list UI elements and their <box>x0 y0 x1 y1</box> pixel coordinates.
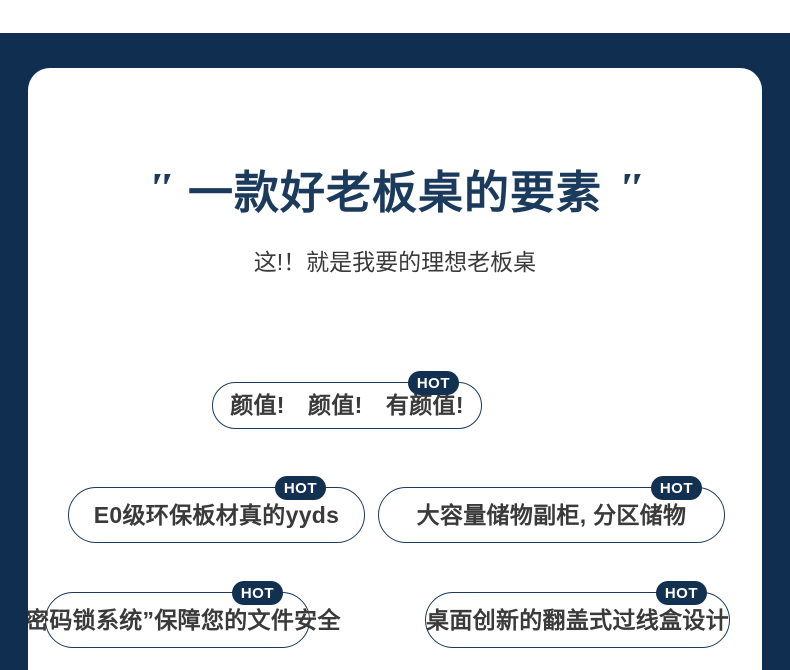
feature-pill-1-label: 颜值! 颜值! 有颜值! <box>230 394 464 417</box>
feature-pill-2-label: E0级环保板材真的yyds <box>94 504 339 527</box>
feature-pill-5-label: 桌面创新的翻盖式过线盒设计 <box>426 609 729 632</box>
quote-open-icon: " <box>145 168 175 210</box>
feature-pill-5[interactable]: 桌面创新的翻盖式过线盒设计 HOT <box>425 592 730 648</box>
feature-pill-3-label: 大容量储物副柜, 分区储物 <box>417 504 687 527</box>
hot-badge-icon: HOT <box>275 476 326 500</box>
top-white-strip <box>0 0 790 33</box>
hot-badge-icon: HOT <box>656 581 707 605</box>
quote-close-icon: " <box>615 168 645 210</box>
page-subtitle: 这!！就是我要的理想老板桌 <box>28 251 762 274</box>
feature-pill-4-label: “密码锁系统”保障您的文件安全 <box>28 609 341 632</box>
feature-pill-4[interactable]: “密码锁系统”保障您的文件安全 HOT <box>45 592 310 648</box>
page-title-text: 一款好老板桌的要素 <box>188 170 602 215</box>
promo-banner: "一款好老板桌的要素" 这!！就是我要的理想老板桌 颜值! 颜值! 有颜值! H… <box>0 0 790 670</box>
feature-pill-3[interactable]: 大容量储物副柜, 分区储物 HOT <box>378 487 725 543</box>
hot-badge-icon: HOT <box>408 371 459 395</box>
feature-pill-1[interactable]: 颜值! 颜值! 有颜值! HOT <box>212 382 482 429</box>
content-card: "一款好老板桌的要素" 这!！就是我要的理想老板桌 颜值! 颜值! 有颜值! H… <box>28 68 762 670</box>
hot-badge-icon: HOT <box>651 476 702 500</box>
page-title: "一款好老板桌的要素" <box>28 168 762 215</box>
feature-pill-2[interactable]: E0级环保板材真的yyds HOT <box>68 487 365 543</box>
hot-badge-icon: HOT <box>232 581 283 605</box>
